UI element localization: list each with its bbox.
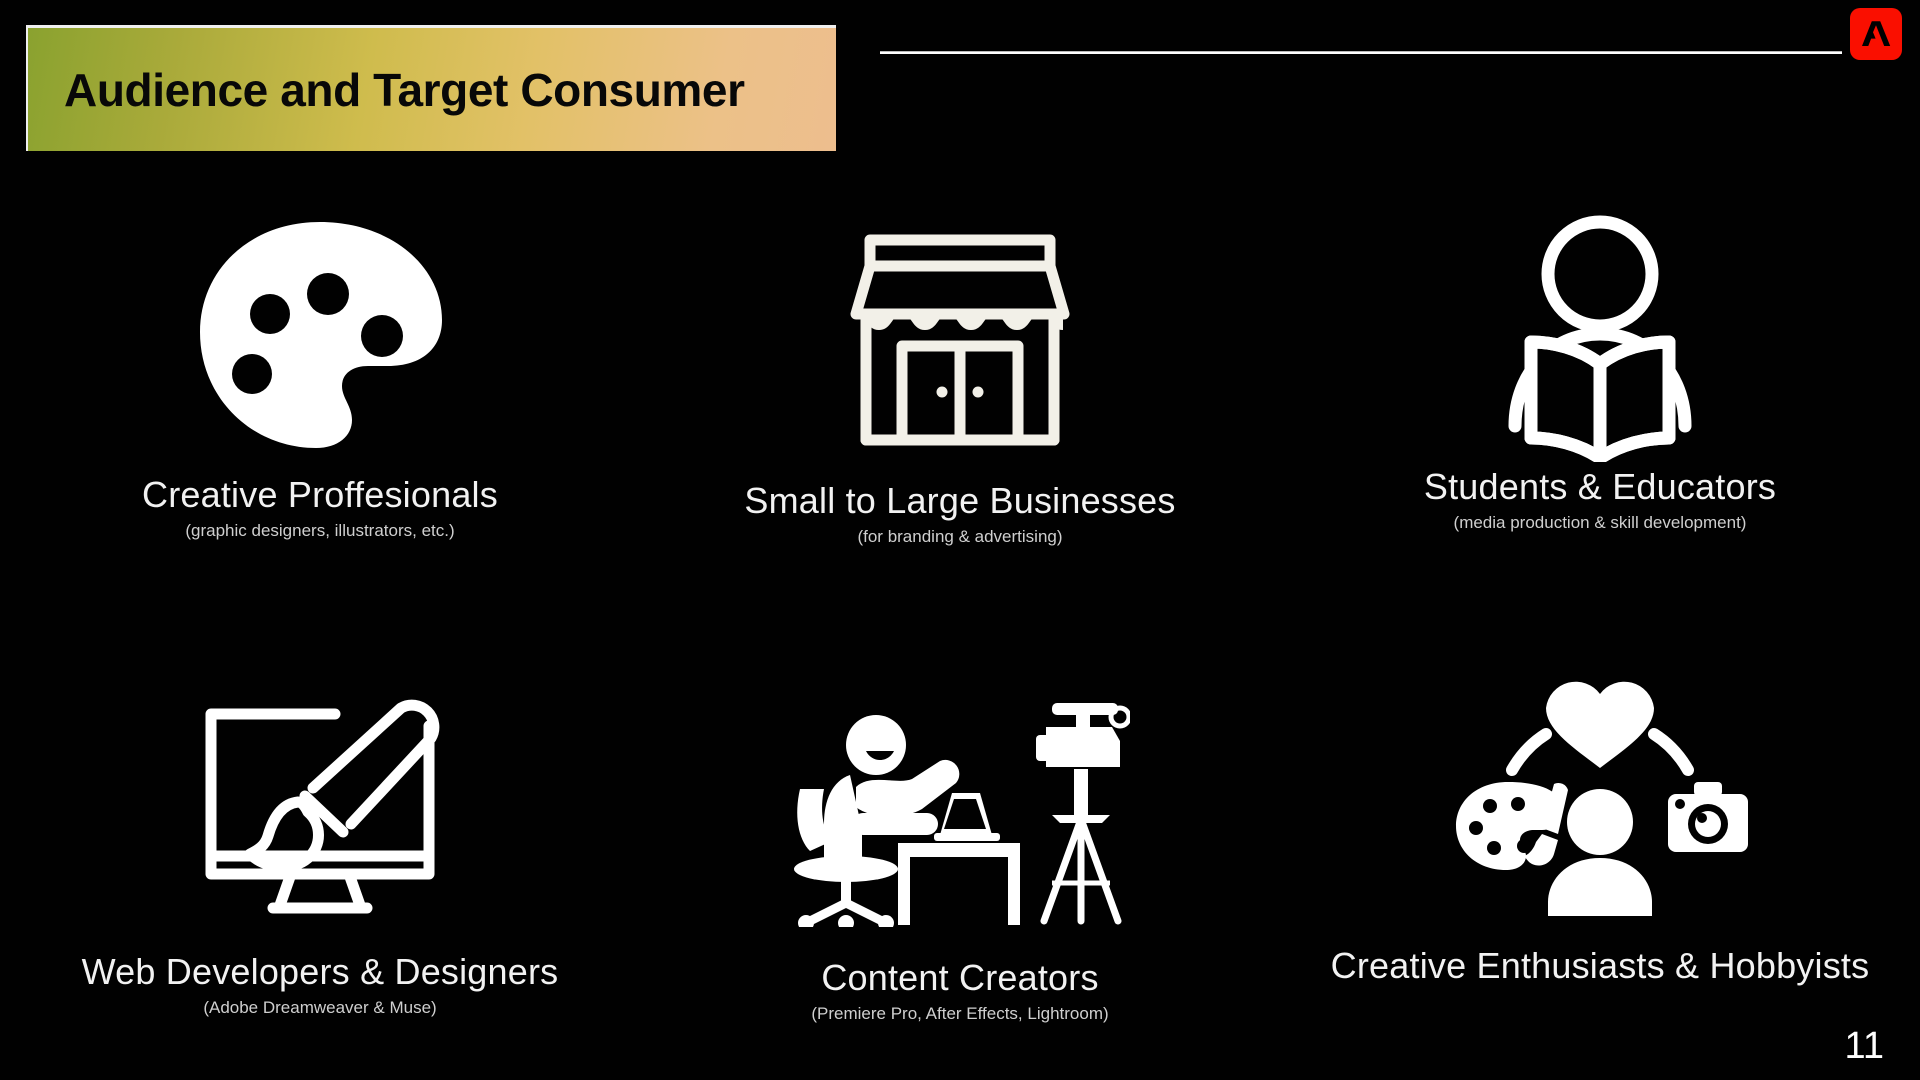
- page-title: Audience and Target Consumer: [28, 63, 745, 117]
- storefront-icon: [850, 212, 1070, 482]
- audience-title: Web Developers & Designers: [82, 953, 559, 991]
- palette-icon: [192, 206, 448, 476]
- audience-title: Creative Proffesionals: [142, 476, 498, 514]
- audience-card-businesses: Small to Large Businesses (for branding …: [640, 200, 1280, 615]
- audience-card-students-educators: Students & Educators (media production &…: [1280, 200, 1920, 615]
- audience-title: Content Creators: [821, 959, 1098, 997]
- audience-card-web-developers: Web Developers & Designers (Adobe Dreamw…: [0, 615, 640, 1030]
- monitor-paintbrush-icon: [195, 671, 445, 941]
- audience-title: Small to Large Businesses: [744, 482, 1175, 520]
- slide-title-band: Audience and Target Consumer: [26, 25, 836, 151]
- audience-card-hobbyists: Creative Enthusiasts & Hobbyists: [1280, 615, 1920, 1030]
- audience-grid: Creative Proffesionals (graphic designer…: [0, 200, 1920, 1030]
- adobe-logo: [1850, 8, 1902, 60]
- header-divider-rule: [880, 51, 1842, 54]
- hobbyist-heart-palette-camera-icon: [1450, 661, 1750, 931]
- audience-title: Students & Educators: [1424, 468, 1776, 506]
- audience-subtitle: (Adobe Dreamweaver & Muse): [203, 998, 436, 1018]
- slide-canvas: Audience and Target Consumer Creative Pr…: [0, 0, 1920, 1080]
- audience-card-content-creators: Content Creators (Premiere Pro, After Ef…: [640, 615, 1280, 1030]
- audience-subtitle: (media production & skill development): [1454, 513, 1747, 533]
- audience-subtitle: (for branding & advertising): [857, 527, 1062, 547]
- page-number: 11: [1845, 1025, 1884, 1068]
- person-desk-camera-tripod-icon: [790, 677, 1130, 947]
- audience-subtitle: (Premiere Pro, After Effects, Lightroom): [811, 1004, 1108, 1024]
- audience-card-creative-professionals: Creative Proffesionals (graphic designer…: [0, 200, 640, 615]
- audience-subtitle: (graphic designers, illustrators, etc.): [185, 521, 454, 541]
- person-reading-book-icon: [1491, 202, 1709, 472]
- audience-title: Creative Enthusiasts & Hobbyists: [1331, 947, 1870, 985]
